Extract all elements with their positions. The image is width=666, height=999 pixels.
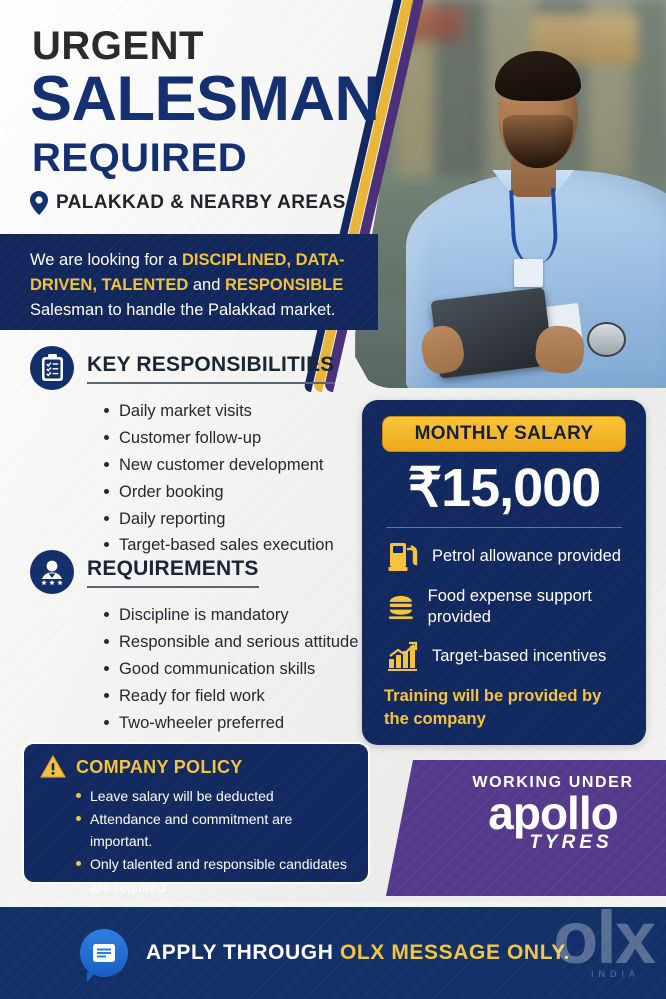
benefit-row: Food expense support provided (388, 586, 626, 627)
policy-title: COMPANY POLICY (76, 757, 243, 778)
intro-tail: Salesman to handle the Palakkad market. (30, 301, 335, 319)
location-text: PALAKKAD & NEARBY AREAS (56, 192, 346, 214)
list-item: Two-wheeler preferred (102, 710, 358, 737)
intro-banner: We are looking for a DISCIPLINED, DATA-D… (0, 234, 378, 330)
required-label: REQUIRED (32, 136, 247, 181)
benefit-text: Petrol allowance provided (432, 546, 621, 567)
chat-message-icon (80, 929, 128, 977)
list-item: Responsible and serious attitude (102, 629, 358, 656)
divider (386, 527, 622, 528)
training-note: Training will be provided by the company (384, 685, 626, 730)
list-item: Daily market visits (102, 398, 335, 425)
list-item: Attendance and commitment are important. (76, 808, 352, 853)
intro-lead: We are looking for a (30, 251, 182, 269)
map-pin-icon (30, 191, 48, 215)
urgent-label: URGENT (32, 24, 204, 69)
bar-chart-growth-icon (388, 641, 418, 671)
apollo-brand-panel: WORKING UNDER apollo TYRES (386, 760, 666, 896)
clipboard-checklist-icon (30, 346, 74, 390)
benefit-text: Food expense support provided (428, 586, 626, 627)
location-line: PALAKKAD & NEARBY AREAS (30, 191, 346, 215)
benefit-text: Target-based incentives (432, 646, 606, 667)
monthly-salary-badge: MONTHLY SALARY (382, 416, 626, 452)
apply-highlight: OLX MESSAGE ONLY. (340, 941, 570, 964)
role-title: SALESMAN (30, 68, 380, 131)
olx-watermark-sub: INDIA (591, 969, 640, 979)
salary-amount: ₹15,000 (382, 456, 626, 519)
list-item: Order booking (102, 479, 335, 506)
requirements-list: Discipline is mandatory Responsible and … (102, 602, 358, 736)
fuel-pump-icon (388, 540, 418, 572)
olx-watermark: olx (553, 901, 654, 975)
list-item: Daily reporting (102, 506, 335, 533)
benefit-row: Target-based incentives (388, 641, 626, 671)
list-item: Ready for field work (102, 683, 358, 710)
apollo-logo-text: apollo (420, 790, 666, 836)
requirements-section: REQUIREMENTS Discipline is mandatory Res… (30, 550, 358, 736)
apply-footer: APPLY THROUGH OLX MESSAGE ONLY. olx INDI… (0, 902, 666, 999)
list-item: Customer follow-up (102, 425, 335, 452)
person-stars-icon (30, 550, 74, 594)
responsibilities-section: KEY RESPONSIBILITIES Daily market visits… (30, 346, 335, 559)
responsibilities-title: KEY RESPONSIBILITIES (87, 353, 335, 384)
salary-card: MONTHLY SALARY ₹15,000 Petrol allowance … (362, 400, 646, 745)
list-item: Leave salary will be deducted (76, 785, 352, 808)
salesman-photo (352, 0, 666, 388)
job-poster: URGENT SALESMAN REQUIRED PALAKKAD & NEAR… (0, 0, 666, 999)
intro-highlight-2: RESPONSIBLE (225, 276, 343, 294)
benefit-row: Petrol allowance provided (388, 540, 626, 572)
list-item: Discipline is mandatory (102, 602, 358, 629)
requirements-title: REQUIREMENTS (87, 557, 259, 588)
apply-prefix: APPLY THROUGH (146, 941, 340, 964)
warning-triangle-icon (40, 755, 66, 779)
apply-text: APPLY THROUGH OLX MESSAGE ONLY. (146, 941, 570, 965)
list-item: Good communication skills (102, 656, 358, 683)
company-policy-box: COMPANY POLICY Leave salary will be dedu… (22, 742, 370, 884)
intro-mid: and (188, 276, 225, 294)
responsibilities-list: Daily market visits Customer follow-up N… (102, 398, 335, 559)
list-item: New customer development (102, 452, 335, 479)
list-item: Only talented and responsible candidates… (76, 853, 352, 898)
burger-meal-icon (388, 592, 414, 622)
policy-list: Leave salary will be deducted Attendance… (76, 785, 352, 898)
